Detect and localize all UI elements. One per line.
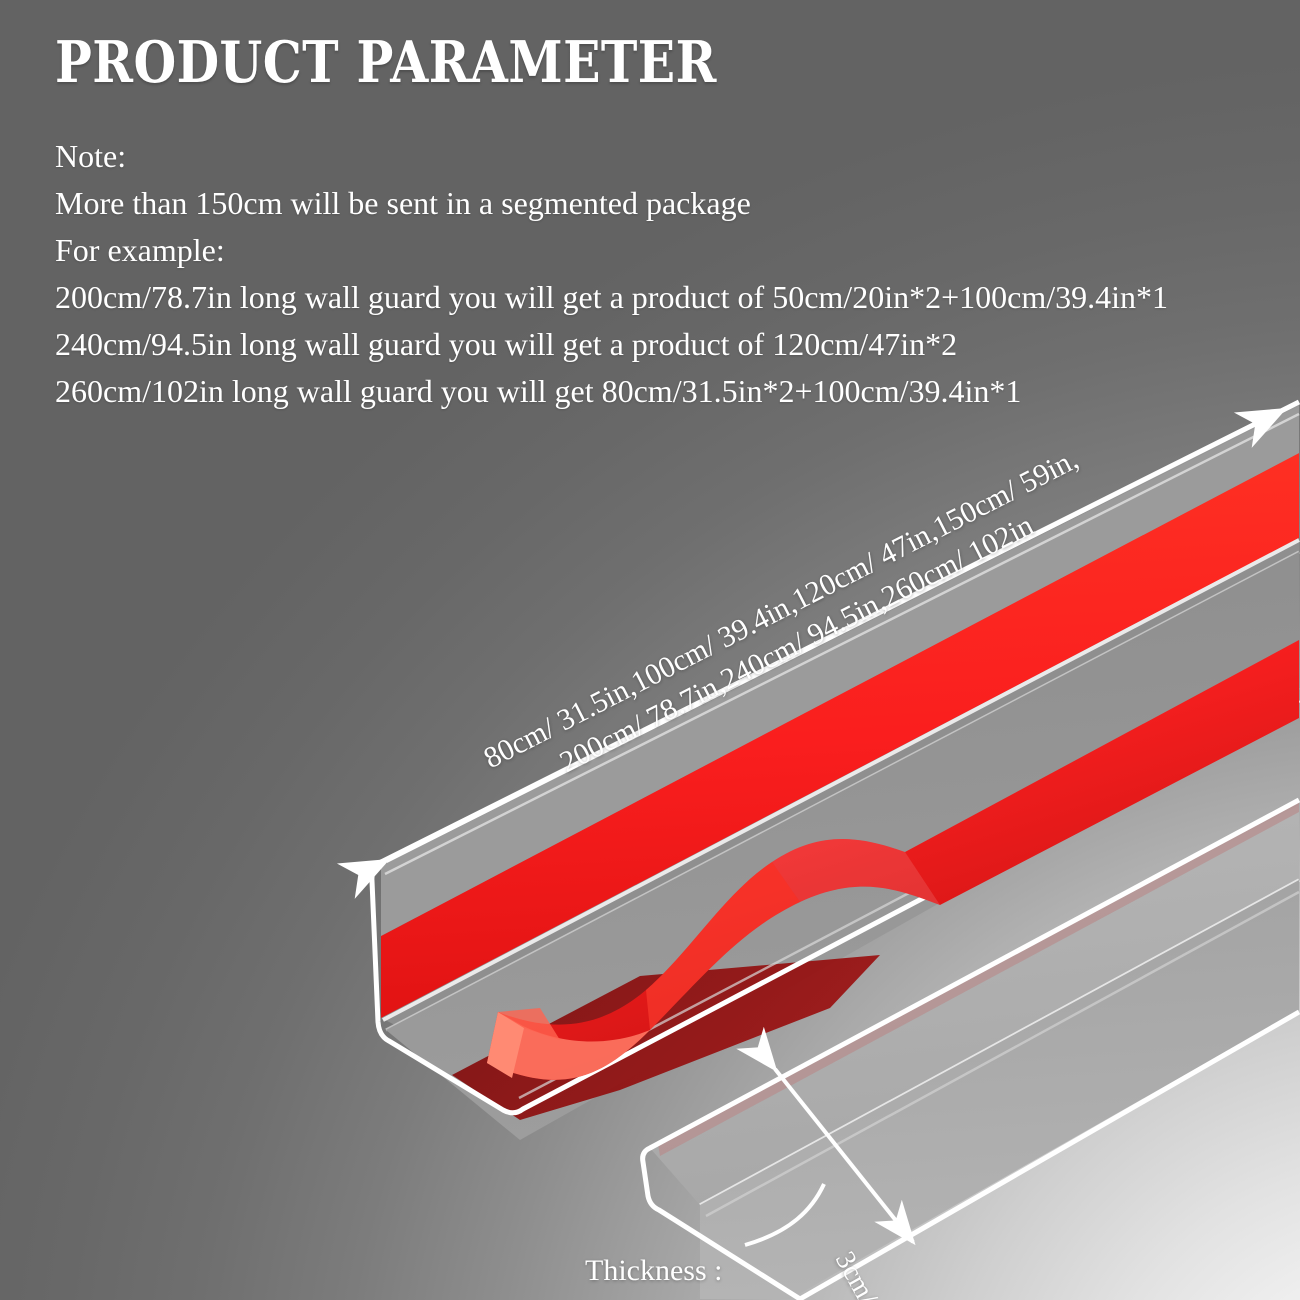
- thickness-label: Thickness :: [585, 1254, 722, 1288]
- note-line-4: 240cm/94.5in long wall guard you will ge…: [55, 321, 1275, 368]
- note-line-1: More than 150cm will be sent in a segmen…: [55, 180, 1275, 227]
- note-block: Note: More than 150cm will be sent in a …: [55, 133, 1275, 415]
- note-line-5: 260cm/102in long wall guard you will get…: [55, 368, 1275, 415]
- note-line-3: 200cm/78.7in long wall guard you will ge…: [55, 274, 1275, 321]
- note-line-2: For example:: [55, 227, 1275, 274]
- note-line-0: Note:: [55, 133, 1275, 180]
- product-parameter-infographic: PRODUCT PARAMETER Note: More than 150cm …: [0, 0, 1300, 1300]
- page-title: PRODUCT PARAMETER: [55, 32, 717, 94]
